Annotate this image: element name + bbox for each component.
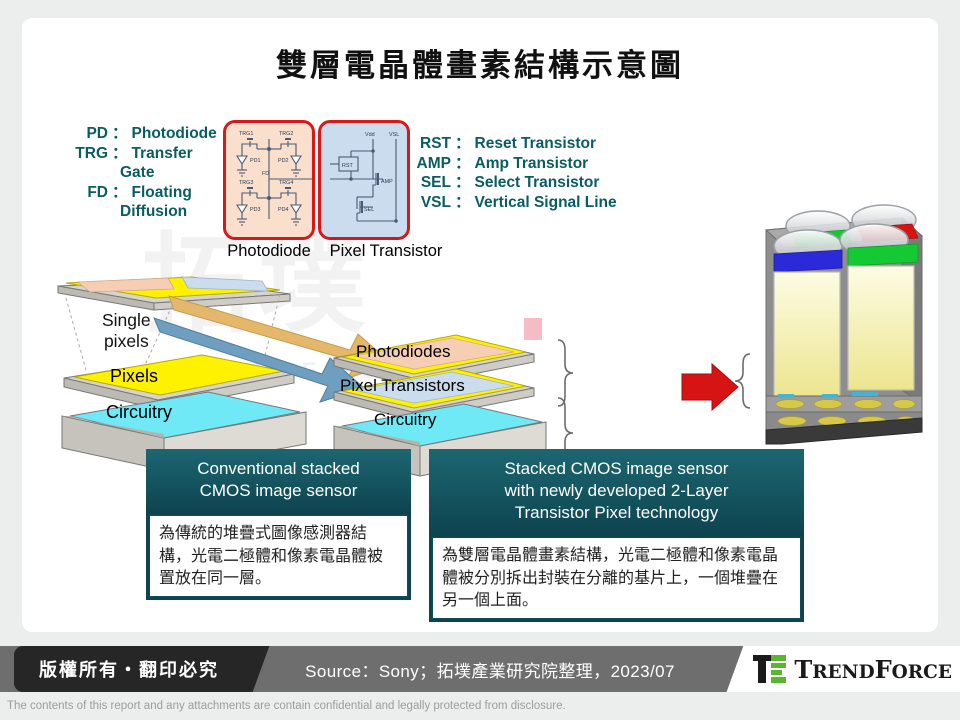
legend-cont-fd: Diffusion bbox=[60, 202, 217, 222]
svg-text:FD: FD bbox=[262, 171, 269, 177]
legend-row-amp: AMP ： Amp Transistor bbox=[407, 154, 617, 174]
svg-text:TRG3: TRG3 bbox=[239, 180, 253, 186]
svg-text:PD1: PD1 bbox=[250, 158, 261, 164]
svg-text:SEL: SEL bbox=[364, 207, 374, 213]
legend-colon: ： bbox=[451, 134, 475, 154]
layer-label-circuitry-right: Circuitry bbox=[374, 410, 436, 430]
legend-abbr: FD bbox=[60, 183, 108, 203]
legend-row-fd: FD ： Floating bbox=[60, 183, 217, 203]
copyright-badge: 版權所有・翻印必究 bbox=[14, 646, 244, 692]
trendforce-mark-icon bbox=[753, 655, 787, 683]
legend-full: Transfer bbox=[132, 144, 193, 164]
slide-canvas: 雙層電晶體畫素結構示意圖 拓墣 OGY RESEARCH PD ： Photod… bbox=[22, 18, 938, 632]
pixel-transistor-circuit-diagram: VddVSL RSTAMPSEL bbox=[318, 120, 410, 240]
legend-row-pd: PD ： Photodiode bbox=[60, 124, 217, 144]
logo-orce: ORCE bbox=[892, 662, 952, 683]
legend-colon: ： bbox=[108, 183, 132, 203]
caption-card-body: 為雙層電晶體畫素結構，光電二極體和像素電晶體被分別拆出封裝在分離的基片上，一個堆… bbox=[432, 537, 801, 619]
svg-text:RST: RST bbox=[342, 163, 353, 169]
svg-text:TRG2: TRG2 bbox=[279, 131, 293, 137]
chip-callout-arrow bbox=[682, 364, 738, 410]
legend-row-sel: SEL ： Select Transistor bbox=[407, 173, 617, 193]
caption-card-body: 為傳統的堆疊式圖像感測器結構，光電二極體和像素電晶體被置放在同一層。 bbox=[149, 515, 408, 597]
photodiode-circuit-diagram: TRG1TRG2 TRG3TRG4 PD1PD2 PD3PD4 FD bbox=[223, 120, 315, 240]
svg-text:VSL: VSL bbox=[389, 132, 399, 138]
brace-chip-left bbox=[735, 354, 750, 408]
layer-label-photodiodes: Photodiodes bbox=[356, 342, 451, 362]
disclaimer-text: The contents of this report and any atta… bbox=[7, 700, 566, 712]
pixel-transistor-circuit-caption: Pixel Transistor bbox=[306, 242, 466, 261]
heading-line-1: Stacked CMOS image sensor bbox=[435, 458, 798, 480]
caption-card-conventional: Conventional stacked CMOS image sensor 為… bbox=[146, 449, 411, 600]
svg-text:TRG4: TRG4 bbox=[279, 180, 293, 186]
caption-card-heading: Conventional stacked CMOS image sensor bbox=[146, 449, 411, 512]
legend-abbr: PD bbox=[60, 124, 108, 144]
svg-text:PD3: PD3 bbox=[250, 207, 261, 213]
single-pixels-line2: pixels bbox=[102, 331, 151, 352]
logo-lead-f: F bbox=[875, 655, 892, 684]
caption-card-heading: Stacked CMOS image sensor with newly dev… bbox=[429, 449, 804, 534]
heading-line-2: with newly developed 2-Layer bbox=[435, 480, 798, 502]
legend-cont-trg: Gate bbox=[60, 163, 217, 183]
legend-colon: ： bbox=[451, 154, 475, 174]
legend-left: PD ： Photodiode TRG ： Transfer Gate FD ：… bbox=[60, 124, 217, 222]
legend-full: Vertical Signal Line bbox=[475, 193, 617, 213]
trendforce-logo: TRENDFORCE bbox=[753, 652, 952, 686]
logo-lead-t: T bbox=[794, 655, 812, 684]
layer-label-pixel-transistors: Pixel Transistors bbox=[340, 376, 465, 396]
legend-row-vsl: VSL ： Vertical Signal Line bbox=[407, 193, 617, 213]
layer-label-pixels: Pixels bbox=[110, 366, 158, 387]
legend-abbr: VSL bbox=[407, 193, 451, 213]
legend-abbr: AMP bbox=[407, 154, 451, 174]
heading-line-2: CMOS image sensor bbox=[152, 480, 405, 502]
layer-label-circuitry-left: Circuitry bbox=[106, 402, 172, 423]
legend-full: Amp Transistor bbox=[475, 154, 589, 174]
legend-full: Reset Transistor bbox=[475, 134, 596, 154]
logo-rend: REND bbox=[812, 662, 874, 683]
chip-3d-render bbox=[766, 205, 922, 444]
svg-text:PD4: PD4 bbox=[278, 207, 289, 213]
legend-full: Select Transistor bbox=[475, 173, 600, 193]
legend-full: Floating bbox=[132, 183, 192, 203]
page-title: 雙層電晶體畫素結構示意圖 bbox=[22, 40, 938, 85]
heading-line-3: Transistor Pixel technology bbox=[435, 502, 798, 524]
legend-colon: ： bbox=[451, 173, 475, 193]
legend-row-rst: RST ： Reset Transistor bbox=[407, 134, 617, 154]
single-pixels-label: Single pixels bbox=[102, 310, 151, 352]
single-pixels-line1: Single bbox=[102, 310, 151, 331]
svg-text:Vdd: Vdd bbox=[365, 132, 375, 138]
legend-colon: ： bbox=[108, 144, 132, 164]
source-line: Source：Sony；拓墣產業研究院整理，2023/07 bbox=[250, 646, 730, 692]
svg-text:TRG1: TRG1 bbox=[239, 131, 253, 137]
trendforce-wordmark: TRENDFORCE bbox=[794, 655, 952, 684]
legend-right: RST ： Reset Transistor AMP ： Amp Transis… bbox=[407, 134, 617, 212]
legend-abbr: SEL bbox=[407, 173, 451, 193]
caption-card-two-layer: Stacked CMOS image sensor with newly dev… bbox=[429, 449, 804, 622]
heading-line-1: Conventional stacked bbox=[152, 458, 405, 480]
legend-abbr: TRG bbox=[60, 144, 108, 164]
legend-full: Photodiode bbox=[132, 124, 217, 144]
svg-text:PD2: PD2 bbox=[278, 158, 289, 164]
legend-abbr: RST bbox=[407, 134, 451, 154]
legend-colon: ： bbox=[108, 124, 132, 144]
svg-text:AMP: AMP bbox=[381, 179, 393, 185]
legend-colon: ： bbox=[451, 193, 475, 213]
legend-row-trg: TRG ： Transfer bbox=[60, 144, 217, 164]
